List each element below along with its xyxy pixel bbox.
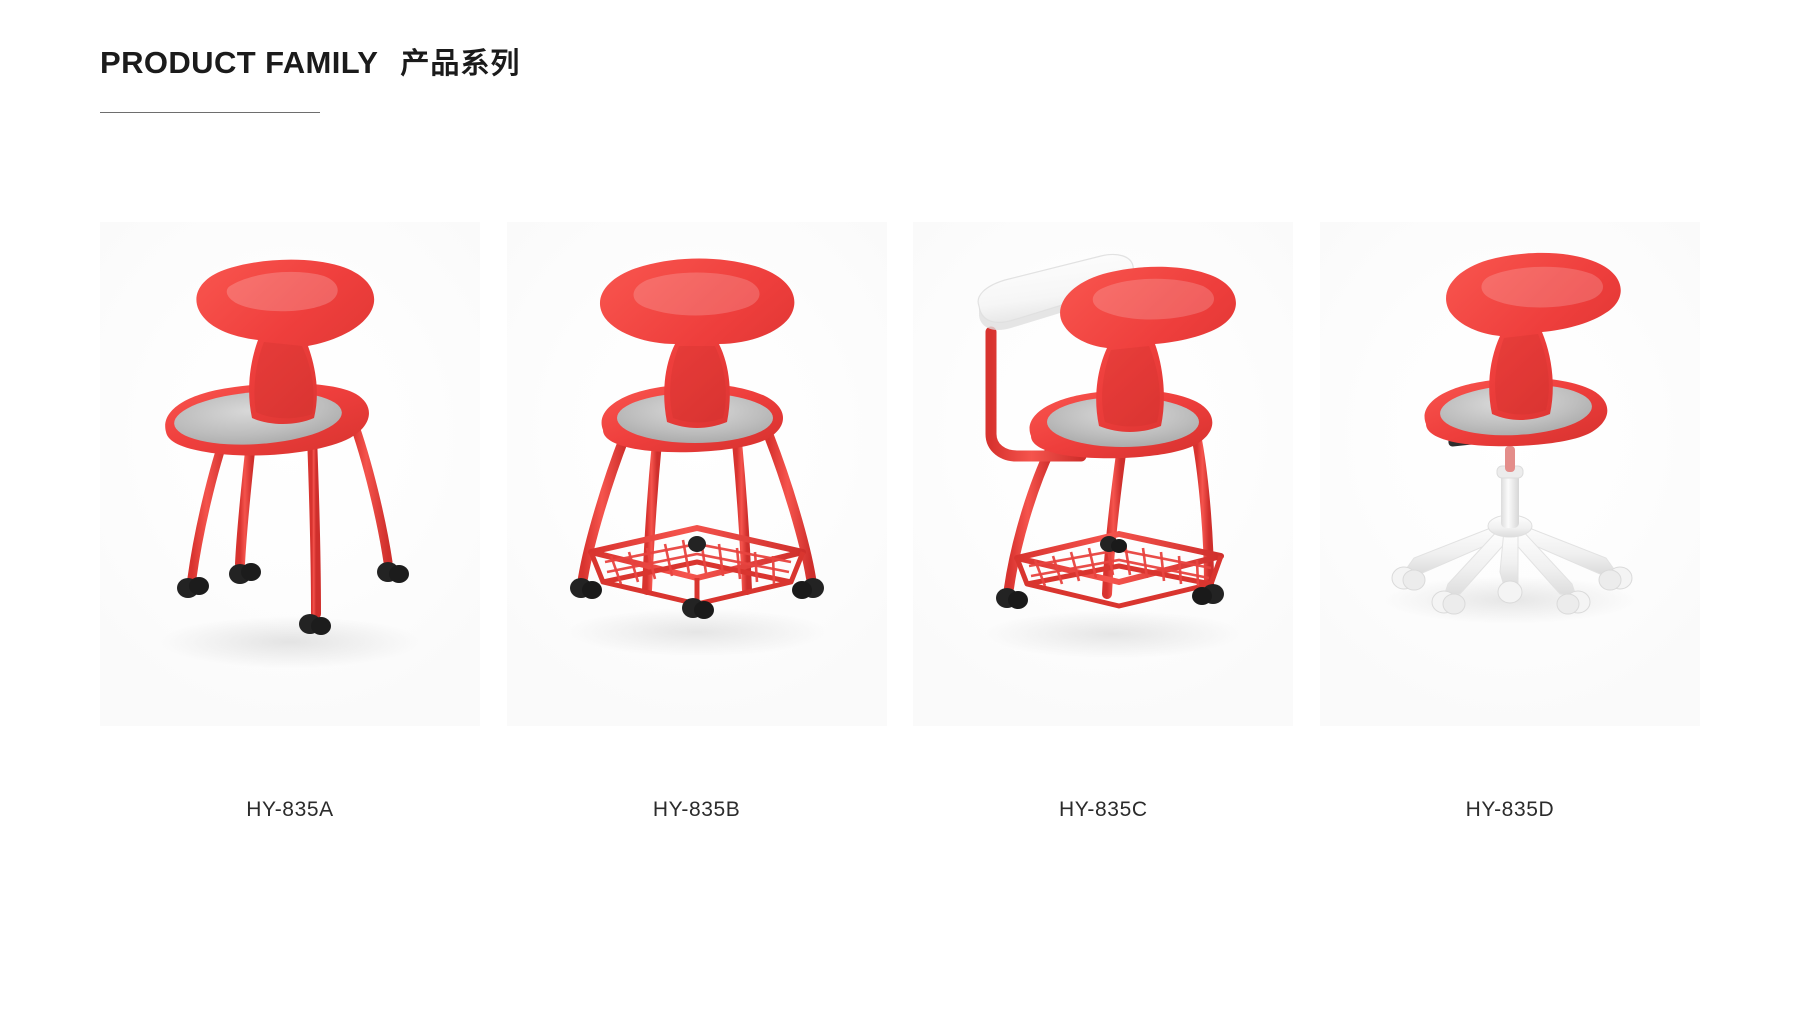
- product-card-hy-835c[interactable]: HY-835C: [913, 222, 1293, 822]
- product-image-hy-835b[interactable]: [507, 222, 887, 726]
- caster: [1498, 581, 1522, 603]
- floor-shadow: [160, 616, 420, 668]
- product-card-hy-835d[interactable]: HY-835D: [1320, 222, 1700, 822]
- product-image-hy-835a[interactable]: [100, 222, 480, 726]
- product-card-hy-835a[interactable]: HY-835A: [100, 222, 480, 822]
- product-label: HY-835D: [1466, 798, 1555, 822]
- backrest-shadow: [254, 342, 313, 418]
- product-label: HY-835C: [1059, 798, 1148, 822]
- product-image-hy-835d[interactable]: [1320, 222, 1700, 726]
- page-title-english: PRODUCT FAMILY: [100, 45, 378, 81]
- chair-leg-front-right: [312, 436, 316, 614]
- caster: [996, 588, 1028, 609]
- title-underline-rule: [100, 112, 320, 113]
- product-family-page: PRODUCT FAMILY 产品系列: [0, 0, 1800, 1013]
- chair-frame: [583, 436, 811, 590]
- frame-leg-rear: [1107, 454, 1121, 594]
- backrest-shadow: [670, 346, 726, 423]
- backrest-shadow: [1495, 334, 1549, 415]
- page-title: PRODUCT FAMILY 产品系列: [100, 45, 1000, 81]
- page-header: PRODUCT FAMILY 产品系列: [100, 45, 1000, 81]
- backrest-shadow: [1102, 346, 1160, 427]
- product-card-hy-835b[interactable]: HY-835B: [507, 222, 887, 822]
- product-label: HY-835A: [246, 798, 333, 822]
- caster: [377, 562, 409, 583]
- page-title-chinese: 产品系列: [400, 47, 520, 80]
- backrest-highlight: [1481, 267, 1603, 308]
- caster: [229, 563, 261, 584]
- caster: [1100, 536, 1127, 553]
- product-image-hy-835c[interactable]: [913, 222, 1293, 726]
- gas-lift-stem: [1505, 446, 1515, 472]
- caster: [688, 536, 706, 552]
- product-gallery: HY-835A: [100, 222, 1700, 822]
- caster: [570, 578, 602, 599]
- caster: [177, 577, 209, 598]
- backrest-highlight: [633, 273, 759, 316]
- floor-shadow: [985, 610, 1241, 658]
- base-arm: [1500, 530, 1518, 586]
- caster: [792, 578, 824, 599]
- product-label: HY-835B: [653, 798, 740, 822]
- gas-lift-column: [1501, 470, 1519, 528]
